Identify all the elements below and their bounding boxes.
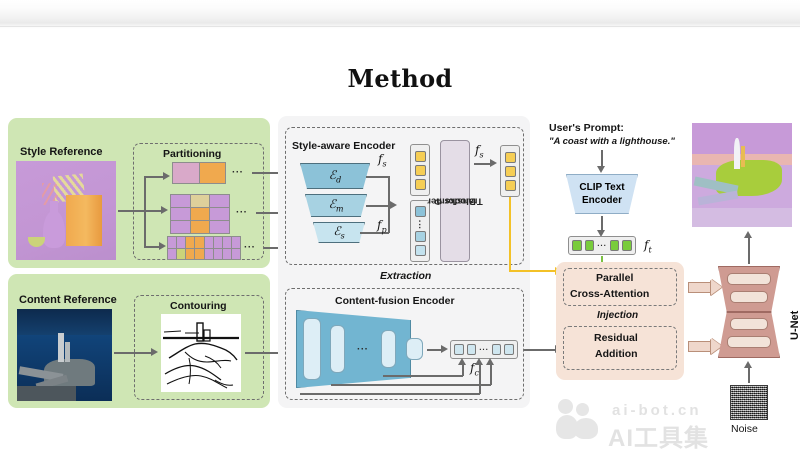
cfe-stage-bar [303,318,321,380]
partition-dots-fine: ··· [244,242,256,253]
style-output-token [505,152,516,163]
style-reference-image [16,161,116,260]
cfe-skip-mid-head [486,358,494,365]
contour-sketch-image [161,314,241,392]
noise-to-unet-arrow [748,366,750,383]
patch-feature-label: fp [377,218,387,234]
partition-grid-coarse [172,162,226,184]
style-feature-label: fs [378,152,387,168]
style-output-token [505,180,516,191]
residual-to-unet-arrow [688,341,712,352]
style-token [415,165,426,176]
partition-branch-fine [144,246,160,248]
extraction-label: Extraction [380,270,431,282]
transformer-blocks: Transformer Blocks Φ [440,140,470,262]
transformer-out-arrow [474,163,491,165]
cfe-skip-mid [331,384,491,386]
watermark-brand: AI工具集 [608,418,709,450]
residual-addition-line2: Addition [595,348,638,360]
style-output-label: fs [475,143,484,159]
style-reference-label: Style Reference [20,146,103,158]
content-reference-label: Content Reference [19,294,117,306]
result-image [692,123,792,227]
parallel-cross-attention-line2: Cross-Attention [570,288,649,300]
partition-dots-coarse: ··· [232,167,244,178]
cfe-skip-long-head [475,358,483,365]
style-token-strip [410,144,430,196]
unet-to-result-head [744,231,752,238]
partition-grid-medium [170,194,230,234]
encoder-shallow: ℰs [313,222,365,243]
content-to-contour-head [151,348,158,356]
clip-text-encoder: CLIP Text Encoder [566,174,638,214]
cfe-skip-long-up [479,362,481,394]
style-flow-horizontal [509,270,557,272]
patch-token [415,231,426,242]
partitioning-label: Partitioning [163,148,221,160]
style-output-token-strip [500,145,520,197]
encoder-shallow-label: ℰs [333,224,344,240]
style-output-token [505,166,516,177]
cfe-to-tokens-arrow [427,349,442,351]
cfe-skip-short [383,375,463,377]
patch-feature-sub: p [381,225,386,234]
content-to-contour-arrow [114,352,152,354]
noise-to-unet-head [744,361,752,368]
partition-branch-coarse [144,176,164,178]
unet-to-result-arrow [748,236,750,264]
style-token [415,179,426,190]
text-token-strip: ··· [568,236,636,255]
unet-label: U-Net [789,311,800,340]
patch-token-strip: ⋮ [410,200,430,262]
text-token [622,240,632,251]
cfe-to-tokens-head [441,345,448,353]
prompt-label: User's Prompt: [549,122,624,134]
transformer-out-head [490,159,497,167]
top-divider [0,26,800,27]
content-token [492,344,502,355]
partition-branch-coarse-head [163,172,170,180]
unet-layer-bar [727,273,771,285]
noise-label: Noise [731,423,758,435]
partition-branch-medium-head [161,206,168,214]
cfe-skip-long [300,393,480,395]
watermark-logo [556,398,602,440]
text-token [610,240,620,251]
content-fusion-encoder-title: Content-fusion Encoder [335,295,455,307]
cfe-stage-bar [330,325,345,373]
partition-branch-fine-head [159,242,166,250]
unet-layer-bar [730,318,768,330]
slide-canvas: Method Style Reference Partitioning ··· … [0,0,800,450]
text-token-dots: ··· [597,241,607,250]
style-flow-vertical [509,197,511,271]
parallel-cross-attention-line1: Parallel [596,272,633,284]
residual-addition-line1: Residual [594,332,638,344]
content-token-strip: ··· [450,340,518,359]
content-to-injection-arrow [524,349,556,351]
clip-encoder-line1: CLIP Text [579,181,624,194]
encoder-deep-out [366,176,389,178]
content-reference-image [17,309,112,401]
style-token [415,151,426,162]
patch-token [415,206,426,217]
prompt-to-clip-head [597,166,605,173]
style-feature-sub: s [382,159,386,168]
unet-layer-bar [727,336,771,348]
encoder-mid: ℰm [305,194,367,217]
text-token [572,240,582,251]
encoder-deep: ℰd [300,163,370,189]
cross-attention-to-unet-arrow [688,282,712,293]
clip-encoder-line2: Encoder [582,194,622,207]
unet-block [718,266,780,358]
encoder-deep-label: ℰd [329,168,341,184]
content-token [467,344,477,355]
cfe-bottleneck [406,338,423,360]
partition-dots-medium: ··· [236,207,248,218]
unet-layer-bar [730,291,768,303]
cfe-inner-dots: ··· [357,344,369,355]
patch-token [415,245,426,256]
partition-branch-medium [144,210,162,212]
content-token [454,344,464,355]
noise-patch [730,385,768,420]
contouring-label: Contouring [170,300,227,312]
contour-lines-svg [161,314,241,392]
style-to-partition-arrow [118,210,144,212]
cfe-skip-mid-up [490,362,492,385]
content-token [504,344,514,355]
cfe-skip-short-head [458,358,466,365]
text-token [585,240,595,251]
patch-token-dots: ⋮ [415,220,425,228]
style-output-sub: s [479,150,483,159]
encoder-merge-out [366,205,391,207]
page-title: Method [0,64,800,93]
partition-grid-fine [167,236,241,260]
text-feature-label: ft [644,238,652,254]
prompt-text: "A coast with a lighthouse." [549,136,675,147]
injection-label: Injection [597,310,638,321]
cfe-stage-bar [381,330,396,368]
text-feature-sub: t [648,245,651,254]
encoder-merge-head [390,201,397,209]
watermark-domain: ai-bot.cn [612,402,702,419]
encoder-mid-label: ℰm [329,197,344,213]
style-aware-encoder-title: Style-aware Encoder [292,140,395,152]
content-token-dots: ··· [479,345,489,354]
